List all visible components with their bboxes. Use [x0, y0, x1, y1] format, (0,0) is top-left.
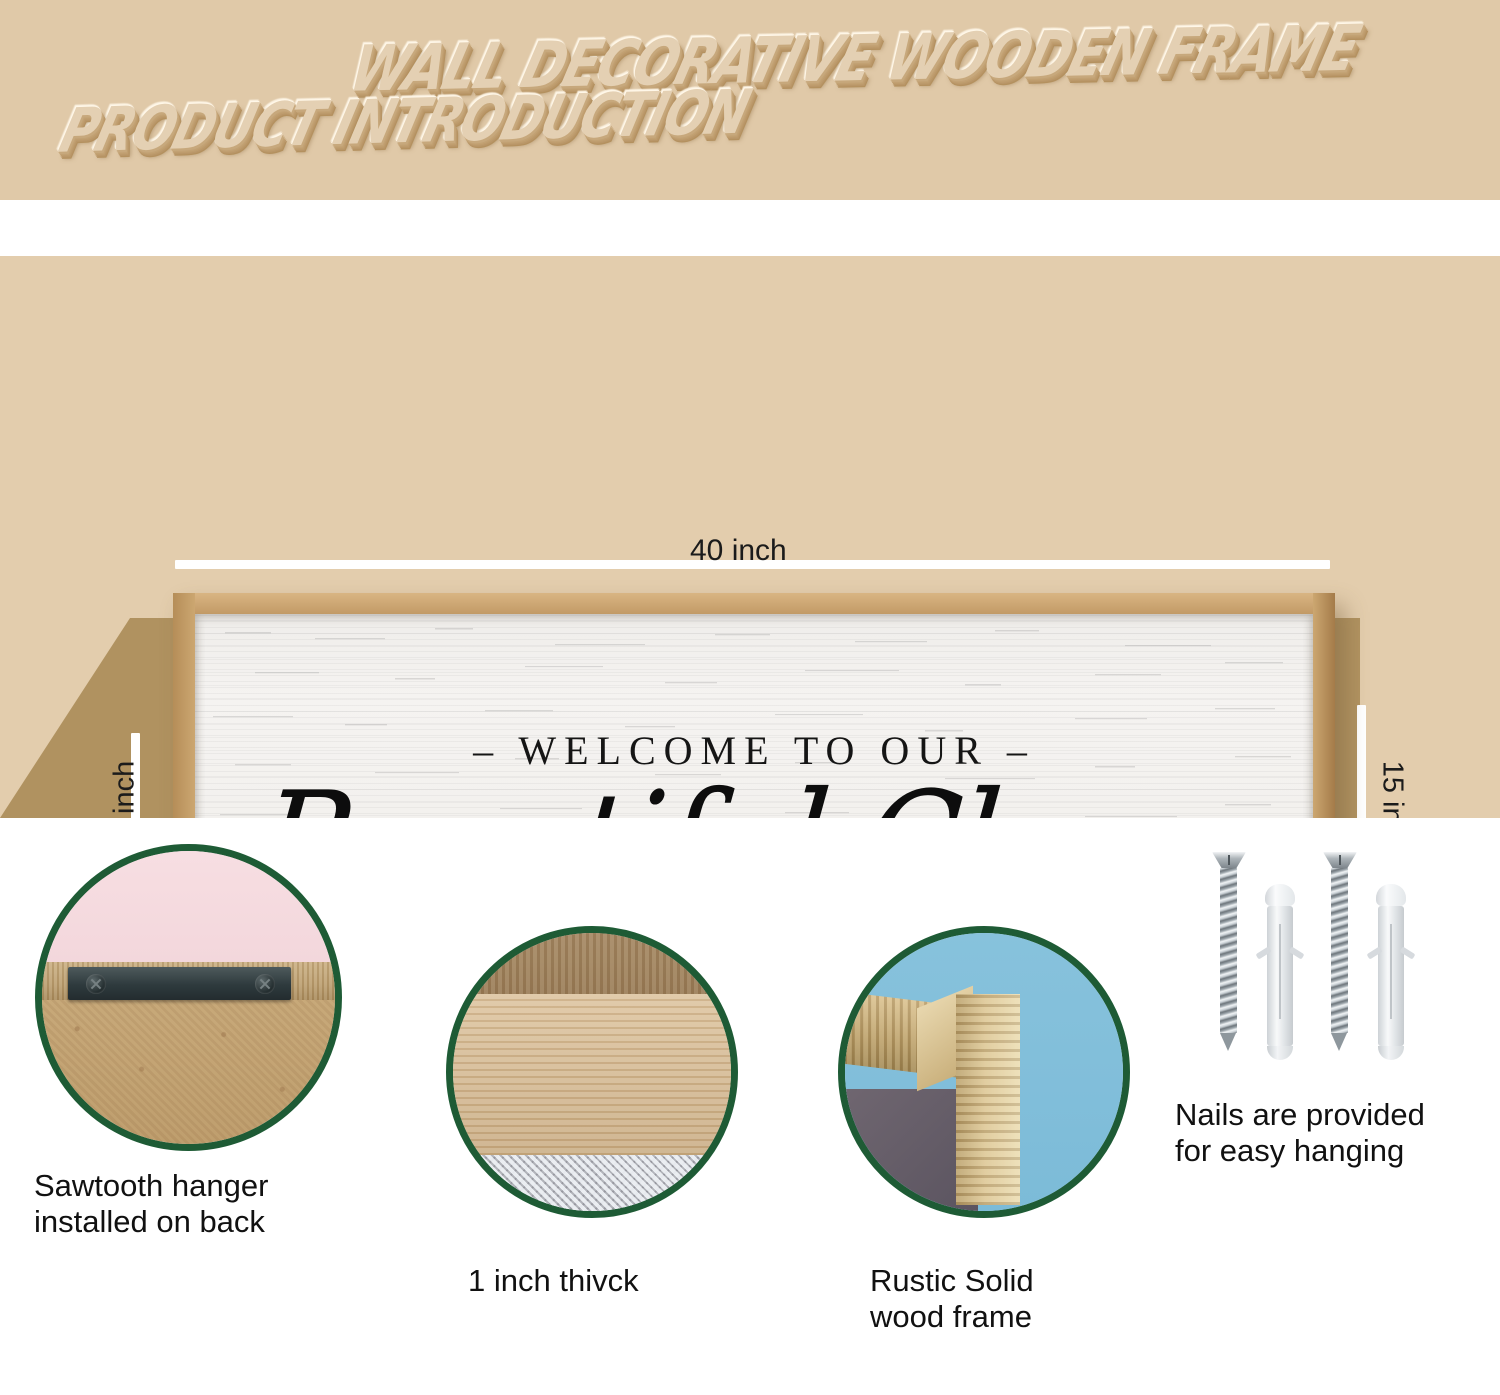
anchor-body — [1267, 906, 1293, 1046]
screw-icon — [86, 974, 106, 994]
frame-top-bevel — [173, 593, 1335, 614]
wooden-sign-frame: – WELCOME TO OUR – Beautiful Chaos — [173, 593, 1335, 818]
product-hero-section: 40 inch 15 inch 15 inch — [0, 256, 1500, 818]
frame-left-bevel — [173, 593, 195, 818]
header-title-line-2: PRODUCT INTRODUCTION — [53, 77, 756, 167]
cork-board-backing — [42, 1000, 335, 1144]
features-section: Sawtooth hanger installed on back 1 inch… — [0, 818, 1500, 1395]
frame-edge-wood-band — [453, 994, 731, 1155]
feature-caption-sawtooth-hanger: Sawtooth hanger installed on back — [34, 1168, 374, 1240]
screw-icon — [255, 974, 275, 994]
feature-image-hardware — [1195, 848, 1455, 1088]
feature-image-wood-frame — [838, 926, 1130, 1218]
wall-anchor-icon — [1376, 884, 1406, 1060]
width-measure-label: 40 inch — [690, 534, 787, 568]
screw-head — [1323, 852, 1357, 868]
wall-anchor-icon — [1265, 884, 1295, 1060]
screw-tip — [1331, 1033, 1347, 1051]
sign-white-wood-panel: – WELCOME TO OUR – Beautiful Chaos — [195, 614, 1313, 818]
anchor-body — [1378, 906, 1404, 1046]
screw-shaft — [1220, 868, 1237, 1033]
screw-tip — [1220, 1033, 1236, 1051]
anchor-head — [1376, 884, 1406, 906]
screw-icon — [1330, 852, 1350, 1051]
pink-wall-background — [42, 851, 335, 962]
frame-vertical-rail — [956, 994, 1020, 1205]
feature-caption-hardware: Nails are provided for easy hanging — [1175, 1097, 1500, 1169]
height-measure-bar-right — [1357, 705, 1366, 818]
screw-head — [1212, 852, 1246, 868]
frame-right-bevel — [1313, 593, 1335, 818]
screw-icon — [1219, 852, 1239, 1051]
height-measure-label-left: 15 inch — [108, 761, 141, 818]
screw-shaft — [1331, 868, 1348, 1033]
sawtooth-hanger-bracket — [68, 967, 291, 1001]
feature-image-thickness — [446, 926, 738, 1218]
anchor-tip — [1267, 1046, 1293, 1060]
anchor-wing-right — [1400, 946, 1416, 959]
feature-caption-thickness: 1 inch thivck — [468, 1263, 788, 1299]
anchor-head — [1265, 884, 1295, 906]
sign-main-script-text: Beautiful Chaos — [254, 776, 1254, 818]
anchor-tip — [1378, 1046, 1404, 1060]
anchor-wing-right — [1289, 946, 1305, 959]
height-measure-label-right: 15 inch — [1375, 761, 1408, 818]
header-banner: WALL DECORATIVE WOODEN FRAME PRODUCT INT… — [0, 0, 1500, 200]
anchor-wing-left — [1367, 946, 1383, 959]
anchor-wing-left — [1256, 946, 1272, 959]
feature-image-sawtooth-hanger — [35, 844, 342, 1151]
feature-caption-wood-frame: Rustic Solid wood frame — [870, 1263, 1190, 1335]
upper-wood-band — [453, 933, 731, 994]
mesh-surface-band — [453, 1155, 731, 1211]
